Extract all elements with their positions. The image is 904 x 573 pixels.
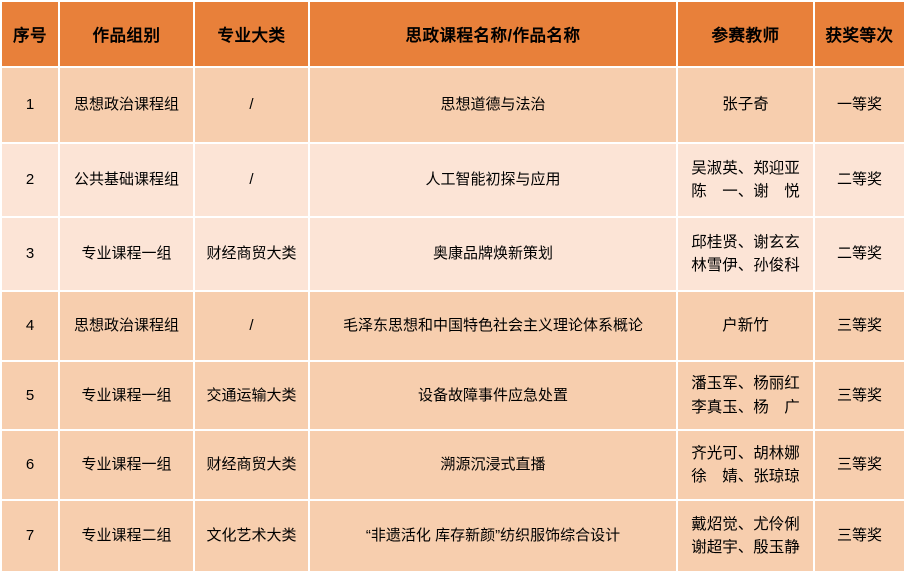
award-results-table: 序号 作品组别 专业大类 思政课程名称/作品名称 参赛教师 获奖等次 1 思想政… [0, 0, 904, 573]
cell-teacher: 张子奇 [677, 67, 814, 143]
cell-seq: 2 [1, 143, 59, 217]
table-row: 6 专业课程一组 财经商贸大类 溯源沉浸式直播 齐光可、胡林娜 徐 婧、张琼琼 … [1, 430, 904, 500]
cell-major: 财经商贸大类 [194, 217, 309, 291]
cell-seq: 6 [1, 430, 59, 500]
column-header-major: 专业大类 [194, 1, 309, 67]
cell-teacher: 邱桂贤、谢玄玄 林雪伊、孙俊科 [677, 217, 814, 291]
table-header-row: 序号 作品组别 专业大类 思政课程名称/作品名称 参赛教师 获奖等次 [1, 1, 904, 67]
cell-group: 专业课程一组 [59, 217, 194, 291]
table-row: 3 专业课程一组 财经商贸大类 奥康品牌焕新策划 邱桂贤、谢玄玄 林雪伊、孙俊科… [1, 217, 904, 291]
cell-level: 二等奖 [814, 143, 904, 217]
cell-teacher: 齐光可、胡林娜 徐 婧、张琼琼 [677, 430, 814, 500]
cell-major: 财经商贸大类 [194, 430, 309, 500]
cell-seq: 1 [1, 67, 59, 143]
cell-level: 三等奖 [814, 291, 904, 361]
cell-course: 思想道德与法治 [309, 67, 677, 143]
cell-level: 三等奖 [814, 500, 904, 572]
cell-major: / [194, 67, 309, 143]
cell-course: 奥康品牌焕新策划 [309, 217, 677, 291]
table-body: 1 思想政治课程组 / 思想道德与法治 张子奇 一等奖 2 公共基础课程组 / … [1, 67, 904, 572]
table-row: 1 思想政治课程组 / 思想道德与法治 张子奇 一等奖 [1, 67, 904, 143]
column-header-course: 思政课程名称/作品名称 [309, 1, 677, 67]
cell-seq: 7 [1, 500, 59, 572]
cell-level: 三等奖 [814, 361, 904, 430]
cell-teacher: 戴炤觉、尤伶俐 谢超宇、殷玉静 [677, 500, 814, 572]
cell-seq: 5 [1, 361, 59, 430]
cell-major: / [194, 143, 309, 217]
cell-course: 设备故障事件应急处置 [309, 361, 677, 430]
cell-group: 公共基础课程组 [59, 143, 194, 217]
cell-level: 二等奖 [814, 217, 904, 291]
cell-course: 人工智能初探与应用 [309, 143, 677, 217]
cell-seq: 4 [1, 291, 59, 361]
cell-group: 思想政治课程组 [59, 291, 194, 361]
cell-course: 毛泽东思想和中国特色社会主义理论体系概论 [309, 291, 677, 361]
cell-course: 溯源沉浸式直播 [309, 430, 677, 500]
table-row: 2 公共基础课程组 / 人工智能初探与应用 吴淑英、郑迎亚 陈 一、谢 悦 二等… [1, 143, 904, 217]
cell-level: 一等奖 [814, 67, 904, 143]
cell-group: 专业课程二组 [59, 500, 194, 572]
cell-course: “非遗活化 库存新颜”纺织服饰综合设计 [309, 500, 677, 572]
table-header: 序号 作品组别 专业大类 思政课程名称/作品名称 参赛教师 获奖等次 [1, 1, 904, 67]
cell-group: 专业课程一组 [59, 430, 194, 500]
column-header-level: 获奖等次 [814, 1, 904, 67]
cell-teacher: 户新竹 [677, 291, 814, 361]
cell-major: 交通运输大类 [194, 361, 309, 430]
cell-group: 专业课程一组 [59, 361, 194, 430]
column-header-group: 作品组别 [59, 1, 194, 67]
column-header-teacher: 参赛教师 [677, 1, 814, 67]
cell-level: 三等奖 [814, 430, 904, 500]
cell-group: 思想政治课程组 [59, 67, 194, 143]
cell-major: / [194, 291, 309, 361]
column-header-seq: 序号 [1, 1, 59, 67]
table-row: 4 思想政治课程组 / 毛泽东思想和中国特色社会主义理论体系概论 户新竹 三等奖 [1, 291, 904, 361]
cell-teacher: 吴淑英、郑迎亚 陈 一、谢 悦 [677, 143, 814, 217]
cell-major: 文化艺术大类 [194, 500, 309, 572]
cell-seq: 3 [1, 217, 59, 291]
table-row: 5 专业课程一组 交通运输大类 设备故障事件应急处置 潘玉军、杨丽红 李真玉、杨… [1, 361, 904, 430]
table-row: 7 专业课程二组 文化艺术大类 “非遗活化 库存新颜”纺织服饰综合设计 戴炤觉、… [1, 500, 904, 572]
cell-teacher: 潘玉军、杨丽红 李真玉、杨 广 [677, 361, 814, 430]
